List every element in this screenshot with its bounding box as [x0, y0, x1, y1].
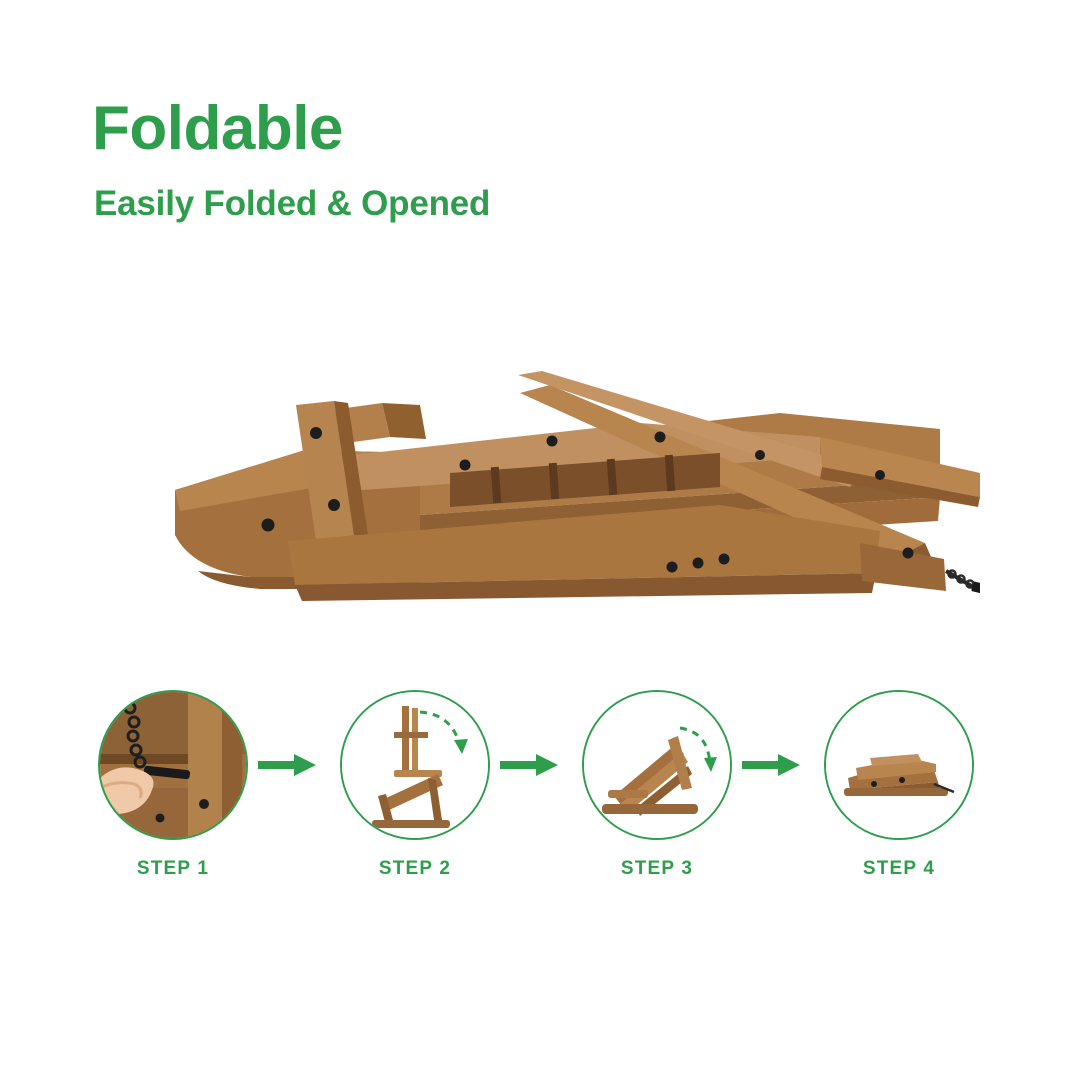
step-3-label: STEP 3 [582, 858, 732, 880]
chair-folding-back-icon [342, 692, 490, 840]
step-4: STEP 4 [824, 690, 974, 880]
step-3: STEP 3 [582, 690, 732, 880]
chair-folded-flat-icon [826, 692, 974, 840]
arrow-step-3-to-4 [742, 753, 800, 777]
arrow-right-icon [500, 753, 558, 777]
page-subtitle: Easily Folded & Opened [94, 186, 490, 221]
folded-chair-illustration [120, 345, 980, 645]
arrow-right-icon [742, 753, 800, 777]
step-2-image [340, 690, 490, 840]
chair-folding-seat-icon [584, 692, 732, 840]
step-2: STEP 2 [340, 690, 490, 880]
arrow-step-2-to-3 [500, 753, 558, 777]
step-1: STEP 1 [98, 690, 248, 880]
arrow-step-1-to-2 [258, 753, 316, 777]
step-4-image [824, 690, 974, 840]
hero-product-image [120, 345, 980, 645]
step-1-image [98, 690, 248, 840]
step-3-image [582, 690, 732, 840]
chain-hardware [946, 571, 980, 595]
step-4-label: STEP 4 [824, 858, 974, 880]
step-1-label: STEP 1 [98, 858, 248, 880]
steps-strip: STEP 1 [0, 690, 1080, 930]
step-2-label: STEP 2 [340, 858, 490, 880]
arrow-right-icon [258, 753, 316, 777]
hand-pulling-chain-pin-icon [100, 692, 248, 840]
page-title: Foldable [92, 98, 343, 160]
